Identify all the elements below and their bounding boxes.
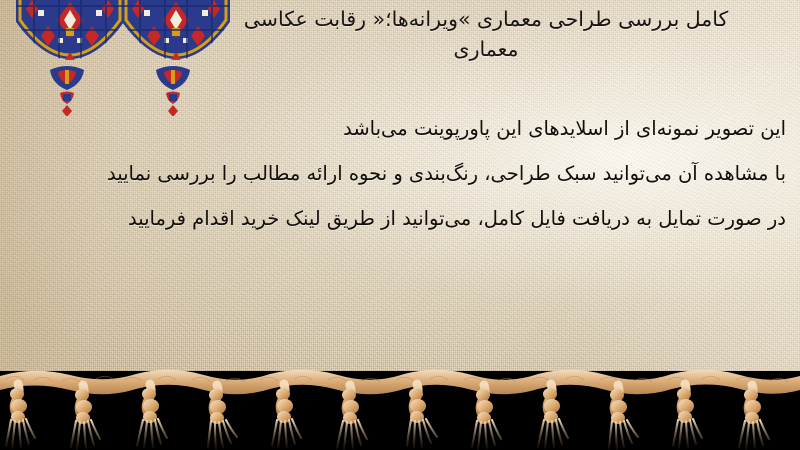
carpet-fringe-tassels-icon — [0, 360, 800, 450]
slide-title-line-2: معماری — [180, 34, 792, 64]
slide-body-line-1: این تصویر نمونه‌ای از اسلایدهای این پاور… — [6, 106, 786, 151]
carpet-fringe-band — [0, 360, 800, 450]
slide-body-line-3: در صورت تمایل به دریافت فایل کامل، می‌تو… — [6, 196, 786, 241]
slide-title-line-1: کامل بررسی طراحی معماری »ویرانه‌ها؛« رقا… — [180, 4, 792, 34]
tassel-group — [6, 384, 769, 449]
slide-title: کامل بررسی طراحی معماری »ویرانه‌ها؛« رقا… — [180, 4, 792, 64]
slide-body-line-2: با مشاهده آن می‌توانید سبک طراحی، رنگ‌بن… — [6, 151, 786, 196]
presentation-slide: کامل بررسی طراحی معماری »ویرانه‌ها؛« رقا… — [0, 0, 800, 450]
slide-body: این تصویر نمونه‌ای از اسلایدهای این پاور… — [6, 106, 786, 241]
